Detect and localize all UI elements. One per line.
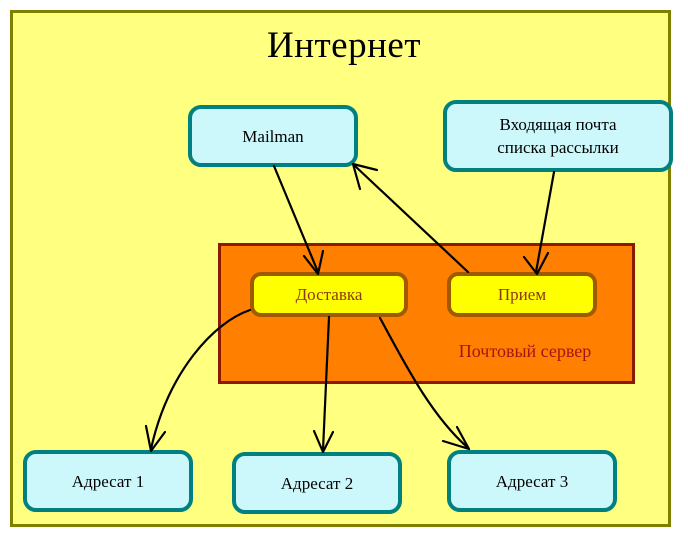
diagram-canvas: Интернет Почтовый сервер Mailman Входяща… <box>0 0 688 551</box>
node-reception[interactable]: Прием <box>447 272 597 317</box>
node-mailman[interactable]: Mailman <box>188 105 358 167</box>
node-recipient-3[interactable]: Адресат 3 <box>447 450 617 512</box>
node-recipient-2[interactable]: Адресат 2 <box>232 452 402 514</box>
node-delivery[interactable]: Доставка <box>250 272 408 317</box>
page-title: Интернет <box>0 24 688 68</box>
node-incoming-mail[interactable]: Входящая почта списка рассылки <box>443 100 673 172</box>
mail-server-label: Почтовый сервер <box>425 340 625 362</box>
node-recipient-1[interactable]: Адресат 1 <box>23 450 193 512</box>
